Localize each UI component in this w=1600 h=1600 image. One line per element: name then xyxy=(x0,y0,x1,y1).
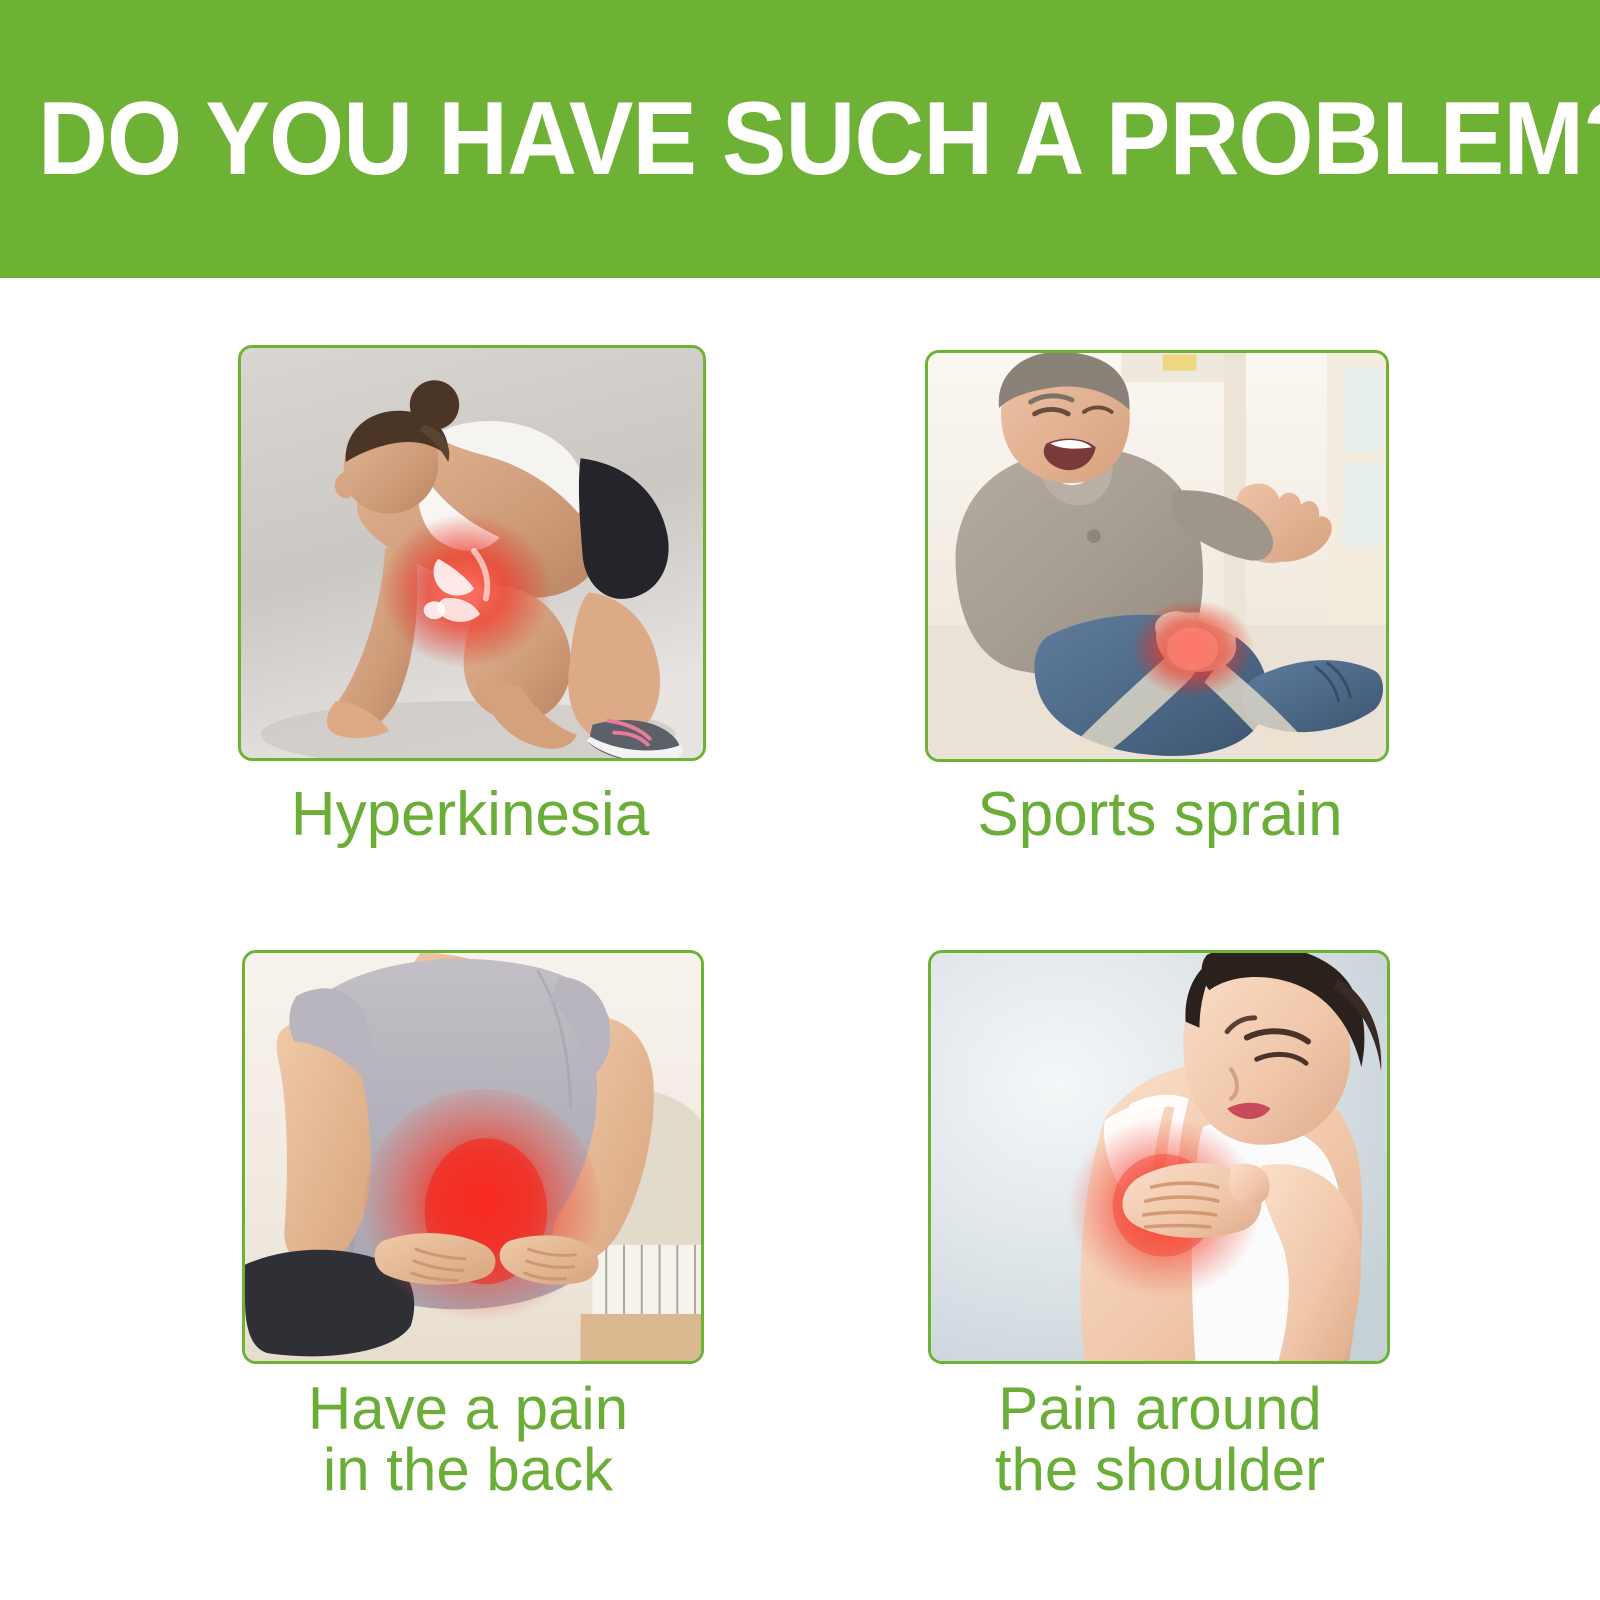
caption-sports-sprain: Sports sprain xyxy=(880,783,1440,846)
illustration-hyperkinesia xyxy=(241,348,703,758)
caption-back-pain: Have a pain in the back xyxy=(188,1378,748,1500)
page-title: DO YOU HAVE SUCH A PROBLEM? xyxy=(38,87,1600,191)
card-sports-sprain[interactable] xyxy=(925,350,1389,762)
photo-frame-sports-sprain xyxy=(925,350,1389,762)
card-hyperkinesia[interactable] xyxy=(238,345,706,761)
illustration-back-pain xyxy=(245,953,701,1361)
card-shoulder-pain[interactable] xyxy=(928,950,1390,1364)
photo-frame-shoulder-pain xyxy=(928,950,1390,1364)
caption-hyperkinesia: Hyperkinesia xyxy=(190,783,750,846)
illustration-sports-sprain xyxy=(928,353,1386,759)
card-back-pain[interactable] xyxy=(242,950,704,1364)
caption-shoulder-pain: Pain around the shoulder xyxy=(880,1378,1440,1500)
photo-frame-hyperkinesia xyxy=(238,345,706,761)
illustration-shoulder-pain xyxy=(931,953,1387,1361)
problem-card-grid: Hyperkinesia xyxy=(0,278,1600,1600)
header-banner: DO YOU HAVE SUCH A PROBLEM? xyxy=(0,0,1600,278)
photo-frame-back-pain xyxy=(242,950,704,1364)
